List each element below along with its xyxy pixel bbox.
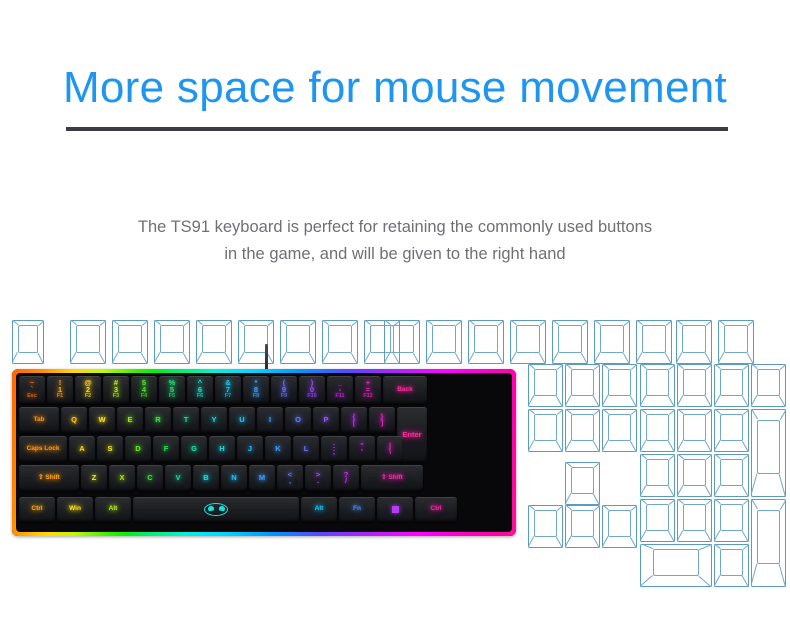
key-c[interactable]: C <box>137 465 163 491</box>
ghost-key-arrow-left <box>528 505 563 548</box>
ghost-keycap-top <box>118 325 141 352</box>
keycap-legend: Ctrl <box>31 506 42 513</box>
ghost-keycap-top <box>720 459 742 486</box>
key-[interactable]: |\ <box>377 436 403 462</box>
ghost-key-nav-5 <box>565 409 600 452</box>
key-h[interactable]: H <box>209 436 235 462</box>
keycap-legend: Enter <box>402 431 421 439</box>
key-[interactable]: ~`Esc <box>19 376 45 404</box>
ghost-keycap-top <box>160 325 183 352</box>
keycap-legend: A <box>79 445 84 453</box>
ghost-keycap-top <box>558 325 581 352</box>
ghost-keycap-top <box>571 510 593 537</box>
keycap-legend: Y <box>211 416 216 424</box>
keycap-legend: X <box>119 474 124 482</box>
keycap-legend-lower: [ <box>353 419 356 427</box>
key-z[interactable]: Z <box>81 465 107 491</box>
key-[interactable]: "' <box>349 436 375 462</box>
key-4[interactable]: $4F4 <box>131 376 157 404</box>
ghost-keycap-top <box>646 459 668 486</box>
keycap-legend: D <box>135 445 140 453</box>
key-2[interactable]: @2F2 <box>75 376 101 404</box>
ghost-key-numpad-8 <box>677 409 712 452</box>
key-[interactable]: ?/ <box>333 465 359 491</box>
keycap-legend-lower: / <box>345 477 347 485</box>
key-5[interactable]: %5F5 <box>159 376 185 404</box>
ghost-key-f10 <box>426 320 462 364</box>
ghost-key-f7 <box>322 320 358 364</box>
keycap-legend: Tab <box>33 417 44 424</box>
ghost-key-numpad-5 <box>677 454 712 497</box>
keycap-legend: Alt <box>315 506 324 513</box>
ghost-key-nav-2 <box>565 364 600 407</box>
keycap-legend-function: F6 <box>197 394 203 400</box>
ghost-key-sys-5 <box>718 320 754 364</box>
keycap-legend: O <box>295 416 301 424</box>
key-v[interactable]: V <box>165 465 191 491</box>
ghost-key-nav-3 <box>602 364 637 407</box>
ghost-key-sys-1 <box>552 320 588 364</box>
keycap-legend-function: F1 <box>57 394 63 400</box>
ghost-key-numpad-decimal <box>714 544 749 587</box>
key-[interactable]: {[ <box>341 407 367 433</box>
key-r[interactable]: R <box>145 407 171 433</box>
keycap-legend-lower: . <box>317 477 319 485</box>
keycap-legend: T <box>184 416 189 424</box>
ghost-keycap-top <box>534 369 556 396</box>
ghost-key-sys-3 <box>636 320 672 364</box>
keycap-legend-function: F4 <box>141 394 147 400</box>
key-shift[interactable]: ⇧ Shift <box>19 465 79 491</box>
ghost-keycap-top <box>682 325 705 352</box>
subtitle-line-1: The TS91 keyboard is perfect for retaini… <box>0 214 790 241</box>
ghost-keycap-top <box>757 420 779 475</box>
ghost-key-numpad-add <box>751 409 786 497</box>
page-subtitle: The TS91 keyboard is perfect for retaini… <box>0 214 790 268</box>
key-caps-lock[interactable]: Caps Lock <box>19 436 67 462</box>
ghost-keycap-top <box>432 325 455 352</box>
keycap-legend: F <box>164 445 169 453</box>
key-k[interactable]: K <box>265 436 291 462</box>
key-0[interactable]: )0F10 <box>299 376 325 404</box>
keycap-legend: G <box>191 445 197 453</box>
ghost-keycap-top <box>608 369 630 396</box>
ghost-key-sys-2 <box>594 320 630 364</box>
ghost-keycap-top <box>474 325 497 352</box>
ghost-key-esc <box>12 320 44 364</box>
key-win[interactable]: Win <box>57 497 93 522</box>
keycap-legend-lower: \ <box>389 448 391 456</box>
ghost-keycap-top <box>202 325 225 352</box>
ghost-key-f5 <box>238 320 274 364</box>
keycap-legend: E <box>127 416 132 424</box>
ghost-keycap-top <box>390 325 413 352</box>
keycap-legend: Alt <box>109 506 118 513</box>
page-title: More space for mouse movement <box>0 62 790 114</box>
ghost-key-numpad-1 <box>640 499 675 542</box>
ghost-keycap-top <box>683 414 705 441</box>
ghost-key-numpad-6 <box>714 454 749 497</box>
ghost-keycap-top <box>646 414 668 441</box>
keycap-legend-function: F7 <box>225 394 231 400</box>
key-fn[interactable]: Fn <box>339 497 375 522</box>
key-m[interactable]: M <box>249 465 275 491</box>
ghost-keycap-top <box>646 504 668 531</box>
ghost-keycap-top <box>534 414 556 441</box>
ghost-keycap-top <box>720 504 742 531</box>
ghost-keycap-top <box>516 325 539 352</box>
keycap-legend: W <box>98 416 105 424</box>
key-1[interactable]: !1F1 <box>47 376 73 404</box>
ghost-key-numpad-4 <box>640 454 675 497</box>
ghost-keycap-top <box>653 549 699 576</box>
keycap-legend-lower: ] <box>381 419 384 427</box>
ghost-keycap-top <box>720 549 742 576</box>
ghost-keycap-top <box>646 369 668 396</box>
keycap-legend-function: F12 <box>363 394 372 400</box>
keycap-legend: Q <box>71 416 77 424</box>
subtitle-line-2: in the game, and will be given to the ri… <box>0 241 790 268</box>
ghost-keycap-top <box>571 467 593 494</box>
keycap-legend: L <box>304 445 309 453</box>
keycap-legend: R <box>155 416 160 424</box>
ghost-keycap-top <box>720 369 742 396</box>
key-shift[interactable]: ⇧ Shift <box>361 465 423 491</box>
key-a[interactable]: A <box>69 436 95 462</box>
ghost-keycap-top <box>286 325 309 352</box>
keycap-legend: S <box>107 445 112 453</box>
keycap-legend: K <box>275 445 280 453</box>
ghost-key-arrow-down <box>565 505 600 548</box>
ghost-keycap-top <box>720 414 742 441</box>
ghost-key-numpad-enter <box>751 499 786 587</box>
ghost-keycap-top <box>642 325 665 352</box>
key-space[interactable] <box>133 497 299 522</box>
keycap-legend: J <box>248 445 252 453</box>
ghost-key-numpad-9 <box>714 409 749 452</box>
keyboard-cable <box>265 344 268 372</box>
ghost-key-f11 <box>468 320 504 364</box>
key-d[interactable]: D <box>125 436 151 462</box>
ghost-key-numpad-numlock <box>640 364 675 407</box>
keycap-legend: ⇧ Shift <box>38 475 60 482</box>
ghost-key-numpad-3 <box>714 499 749 542</box>
key-f[interactable]: F <box>153 436 179 462</box>
ghost-keycap-top <box>724 325 747 352</box>
ghost-key-numpad-0 <box>640 544 712 587</box>
keycap-legend: U <box>239 416 244 424</box>
key-b[interactable]: B <box>193 465 219 491</box>
ghost-keycap-top <box>328 325 351 352</box>
key-n[interactable]: N <box>221 465 247 491</box>
keycap-legend: M <box>259 474 265 482</box>
key-p[interactable]: P <box>313 407 339 433</box>
key-[interactable]: :; <box>321 436 347 462</box>
key-y[interactable]: Y <box>201 407 227 433</box>
title-divider <box>66 127 728 131</box>
key-back[interactable]: Back <box>383 376 427 404</box>
key-i[interactable]: I <box>257 407 283 433</box>
key-8[interactable]: *8F8 <box>243 376 269 404</box>
keycap-legend: ⇧ Shift <box>381 475 403 482</box>
ghost-key-f1 <box>70 320 106 364</box>
keycap-legend: Win <box>69 506 81 513</box>
keycap-legend-lower: ; <box>333 448 336 456</box>
key-9[interactable]: (9F9 <box>271 376 297 404</box>
keycap-legend: Fn <box>353 506 361 513</box>
ghost-key-numpad-subtract <box>751 364 786 407</box>
key-w[interactable]: W <box>89 407 115 433</box>
ghost-key-f6 <box>280 320 316 364</box>
key-e[interactable]: E <box>117 407 143 433</box>
ghost-keycap-top <box>571 414 593 441</box>
ghost-key-nav-1 <box>528 364 563 407</box>
ghost-keycap-top <box>683 369 705 396</box>
key-l[interactable]: L <box>293 436 319 462</box>
ghost-keycap-top <box>683 504 705 531</box>
keycap-legend-function: F2 <box>85 394 91 400</box>
keycap-legend: Back <box>397 387 413 394</box>
keycap-legend-lower: , <box>289 477 291 485</box>
keycap-legend-function: F3 <box>113 394 119 400</box>
spacebar-logo-icon <box>204 503 228 516</box>
ghost-key-f12 <box>510 320 546 364</box>
key-menu[interactable] <box>377 497 413 522</box>
key-[interactable]: }] <box>369 407 395 433</box>
keycap-legend: I <box>269 416 271 424</box>
keycap-legend-function: F9 <box>281 394 287 400</box>
keycap-legend-function: F8 <box>253 394 259 400</box>
key-u[interactable]: U <box>229 407 255 433</box>
ghost-key-nav-4 <box>528 409 563 452</box>
ghost-key-f4 <box>196 320 232 364</box>
keycap-legend: Z <box>92 474 97 482</box>
key-g[interactable]: G <box>181 436 207 462</box>
keycap-legend-function: Esc <box>27 394 37 400</box>
key-[interactable]: >. <box>305 465 331 491</box>
ghost-keycap-top <box>757 369 779 396</box>
ghost-keycap-top <box>608 510 630 537</box>
ghost-key-arrow-up <box>565 462 600 505</box>
key-tab[interactable]: Tab <box>19 407 59 433</box>
key-ctrl[interactable]: Ctrl <box>19 497 55 522</box>
keycap-legend: N <box>231 474 236 482</box>
key-[interactable]: _-F11 <box>327 376 353 404</box>
key-[interactable]: +=F12 <box>355 376 381 404</box>
ghost-key-arrow-right <box>602 505 637 548</box>
ghost-keycap-top <box>76 325 99 352</box>
key-s[interactable]: S <box>97 436 123 462</box>
ghost-keycap-top <box>534 510 556 537</box>
key-[interactable]: <, <box>277 465 303 491</box>
key-o[interactable]: O <box>285 407 311 433</box>
ghost-keycap-top <box>571 369 593 396</box>
ghost-key-numpad-divide <box>677 364 712 407</box>
menu-icon <box>392 506 399 513</box>
ghost-key-f2 <box>112 320 148 364</box>
key-6[interactable]: ^6F6 <box>187 376 213 404</box>
key-t[interactable]: T <box>173 407 199 433</box>
key-j[interactable]: J <box>237 436 263 462</box>
ghost-keycap-top <box>683 459 705 486</box>
ghost-key-nav-6 <box>602 409 637 452</box>
keycap-legend: Ctrl <box>430 506 441 513</box>
key-7[interactable]: &7F7 <box>215 376 241 404</box>
key-ctrl[interactable]: Ctrl <box>415 497 457 522</box>
key-alt[interactable]: Alt <box>301 497 337 522</box>
keycap-legend-function: F5 <box>169 394 175 400</box>
ghost-keycap-top <box>608 414 630 441</box>
keycap-layer: ~`Esc!1F1@2F2#3F3$4F4%5F5^6F6&7F7*8F8(9F… <box>12 369 516 536</box>
key-3[interactable]: #3F3 <box>103 376 129 404</box>
keycap-legend: Caps Lock <box>27 446 60 453</box>
ghost-key-numpad-7 <box>640 409 675 452</box>
ghost-key-f3 <box>154 320 190 364</box>
keycap-legend: H <box>219 445 224 453</box>
keycap-legend: C <box>147 474 152 482</box>
ghost-key-sys-4 <box>676 320 712 364</box>
ghost-keycap-top <box>18 325 39 352</box>
key-q[interactable]: Q <box>61 407 87 433</box>
ghost-key-numpad-2 <box>677 499 712 542</box>
key-x[interactable]: X <box>109 465 135 491</box>
key-alt[interactable]: Alt <box>95 497 131 522</box>
ghost-keycap-top <box>600 325 623 352</box>
keycap-legend: B <box>203 474 208 482</box>
ts91-keyboard: ~`Esc!1F1@2F2#3F3$4F4%5F5^6F6&7F7*8F8(9F… <box>12 369 516 536</box>
keycap-legend-lower: ' <box>361 448 363 456</box>
ghost-keycap-top <box>757 510 779 565</box>
keycap-legend: P <box>323 416 328 424</box>
keycap-legend: V <box>175 474 180 482</box>
ghost-key-numpad-multiply <box>714 364 749 407</box>
ghost-key-f9 <box>384 320 420 364</box>
keycap-legend-function: F11 <box>335 394 344 400</box>
keycap-legend-function: F10 <box>307 394 316 400</box>
